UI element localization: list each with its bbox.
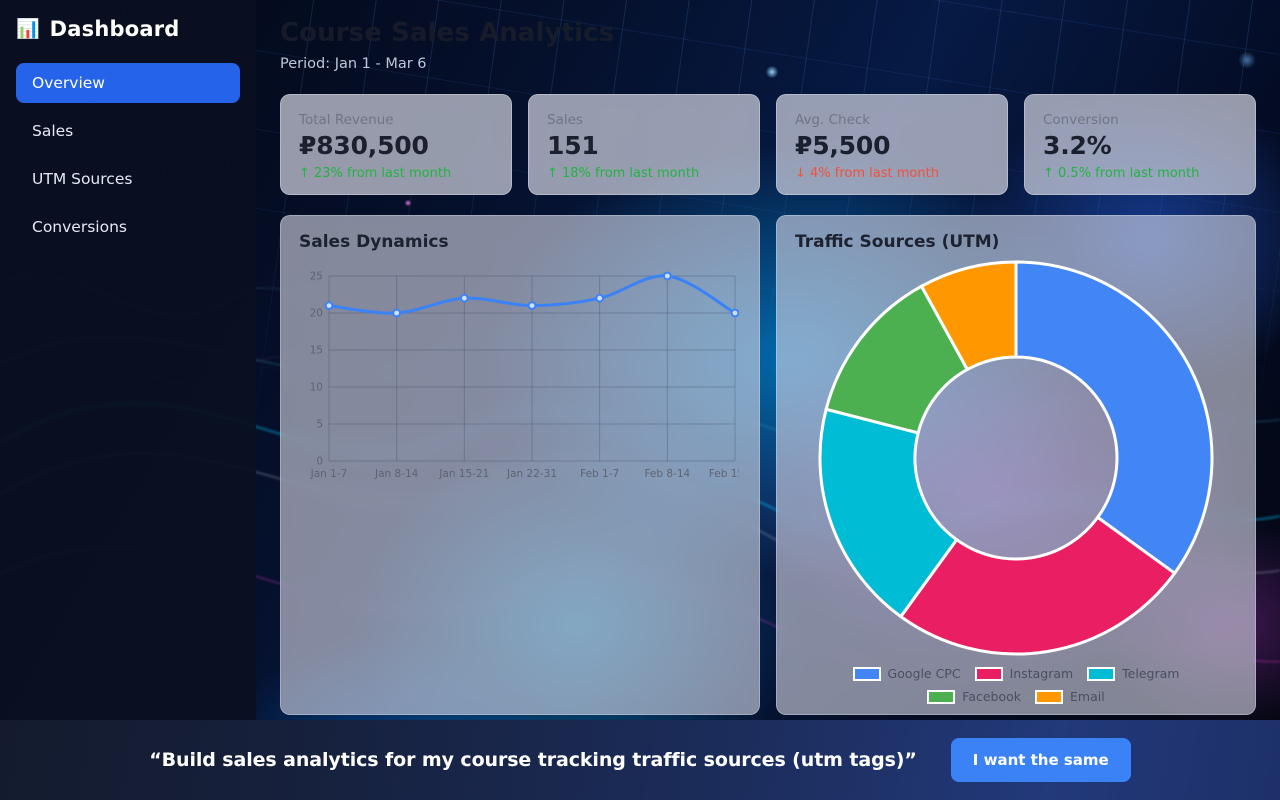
y-axis-tick-label: 15	[310, 345, 323, 357]
sidebar-item-conversions[interactable]: Conversions	[16, 207, 240, 247]
legend-label: Google CPC	[888, 666, 961, 681]
x-axis-tick-label: Jan 1-7	[310, 468, 348, 480]
legend-item[interactable]: Google CPC	[853, 666, 961, 681]
kpi-label: Avg. Check	[795, 112, 989, 128]
main-content: Course Sales Analytics Period: Jan 1 - M…	[256, 0, 1280, 800]
panel-title: Traffic Sources (UTM)	[795, 232, 1237, 252]
kpi-delta: ↓ 4% from last month	[795, 166, 989, 181]
x-axis-tick-label: Feb 8-14	[644, 468, 690, 480]
legend-item[interactable]: Instagram	[975, 666, 1074, 681]
legend-label: Facebook	[962, 689, 1021, 704]
kpi-label: Sales	[547, 112, 741, 128]
panel-sales-dynamics: Sales Dynamics 0510152025Jan 1-7Jan 8-14…	[280, 215, 760, 715]
page-title: Course Sales Analytics	[280, 18, 1256, 48]
panel-row: Sales Dynamics 0510152025Jan 1-7Jan 8-14…	[280, 215, 1256, 715]
legend-item[interactable]: Email	[1035, 689, 1105, 704]
bottom-promo-bar: “Build sales analytics for my course tra…	[0, 720, 1280, 800]
kpi-delta: ↑ 0.5% from last month	[1043, 166, 1237, 181]
sidebar-brand: 📊 Dashboard	[0, 0, 256, 41]
donut-slice[interactable]	[1016, 262, 1212, 573]
kpi-card-total-revenue: Total Revenue ₽830,500 ↑ 23% from last m…	[280, 94, 512, 195]
legend-swatch	[975, 667, 1003, 681]
sidebar-item-label: Sales	[32, 122, 73, 140]
legend-swatch	[853, 667, 881, 681]
line-data-point[interactable]	[529, 302, 536, 309]
bar-chart-icon: 📊	[16, 20, 40, 39]
kpi-card-sales: Sales 151 ↑ 18% from last month	[528, 94, 760, 195]
sidebar-nav: Overview Sales UTM Sources Conversions	[0, 63, 256, 247]
page-period: Period: Jan 1 - Mar 6	[280, 56, 1256, 72]
y-axis-tick-label: 5	[316, 419, 323, 431]
y-axis-tick-label: 20	[310, 308, 323, 320]
sales-dynamics-chart: 0510152025Jan 1-7Jan 8-14Jan 15-21Jan 22…	[299, 266, 741, 510]
x-axis-tick-label: Jan 15-21	[438, 468, 489, 480]
line-data-point[interactable]	[393, 310, 400, 317]
kpi-value: ₽830,500	[299, 131, 493, 160]
legend-item[interactable]: Facebook	[927, 689, 1021, 704]
sidebar-item-sales[interactable]: Sales	[16, 111, 240, 151]
kpi-card-conversion: Conversion 3.2% ↑ 0.5% from last month	[1024, 94, 1256, 195]
sidebar: 📊 Dashboard Overview Sales UTM Sources C…	[0, 0, 256, 800]
kpi-label: Total Revenue	[299, 112, 493, 128]
brand-title: Dashboard	[50, 17, 180, 41]
kpi-delta: ↑ 18% from last month	[547, 166, 741, 181]
panel-title: Sales Dynamics	[299, 232, 741, 252]
sidebar-item-label: UTM Sources	[32, 170, 132, 188]
promo-quote: “Build sales analytics for my course tra…	[149, 749, 917, 771]
line-data-point[interactable]	[664, 273, 671, 280]
kpi-value: 3.2%	[1043, 131, 1237, 160]
legend-label: Email	[1070, 689, 1105, 704]
traffic-sources-chart: Google CPCInstagramTelegramFacebookEmail	[795, 258, 1237, 704]
line-data-point[interactable]	[732, 310, 739, 317]
y-axis-tick-label: 10	[310, 382, 323, 394]
x-axis-tick-label: Jan 22-31	[506, 468, 557, 480]
sidebar-item-utm-sources[interactable]: UTM Sources	[16, 159, 240, 199]
donut-legend: Google CPCInstagramTelegramFacebookEmail	[816, 666, 1216, 704]
kpi-value: 151	[547, 131, 741, 160]
y-axis-tick-label: 0	[316, 456, 323, 468]
kpi-delta: ↑ 23% from last month	[299, 166, 493, 181]
x-axis-tick-label: Feb 15-19	[709, 468, 739, 480]
kpi-card-avg-check: Avg. Check ₽5,500 ↓ 4% from last month	[776, 94, 1008, 195]
line-data-point[interactable]	[461, 295, 468, 302]
x-axis-tick-label: Feb 1-7	[580, 468, 619, 480]
x-axis-tick-label: Jan 8-14	[374, 468, 419, 480]
sidebar-item-overview[interactable]: Overview	[16, 63, 240, 103]
kpi-label: Conversion	[1043, 112, 1237, 128]
sidebar-item-label: Conversions	[32, 218, 127, 236]
kpi-row: Total Revenue ₽830,500 ↑ 23% from last m…	[280, 94, 1256, 195]
legend-item[interactable]: Telegram	[1087, 666, 1179, 681]
legend-swatch	[1087, 667, 1115, 681]
kpi-value: ₽5,500	[795, 131, 989, 160]
legend-label: Instagram	[1010, 666, 1074, 681]
panel-traffic-sources: Traffic Sources (UTM) Google CPCInstagra…	[776, 215, 1256, 715]
legend-label: Telegram	[1122, 666, 1179, 681]
y-axis-tick-label: 25	[310, 271, 323, 283]
line-data-point[interactable]	[326, 302, 333, 309]
legend-swatch	[927, 690, 955, 704]
legend-swatch	[1035, 690, 1063, 704]
i-want-the-same-button[interactable]: I want the same	[951, 738, 1131, 782]
sidebar-item-label: Overview	[32, 74, 105, 92]
line-data-point[interactable]	[596, 295, 603, 302]
